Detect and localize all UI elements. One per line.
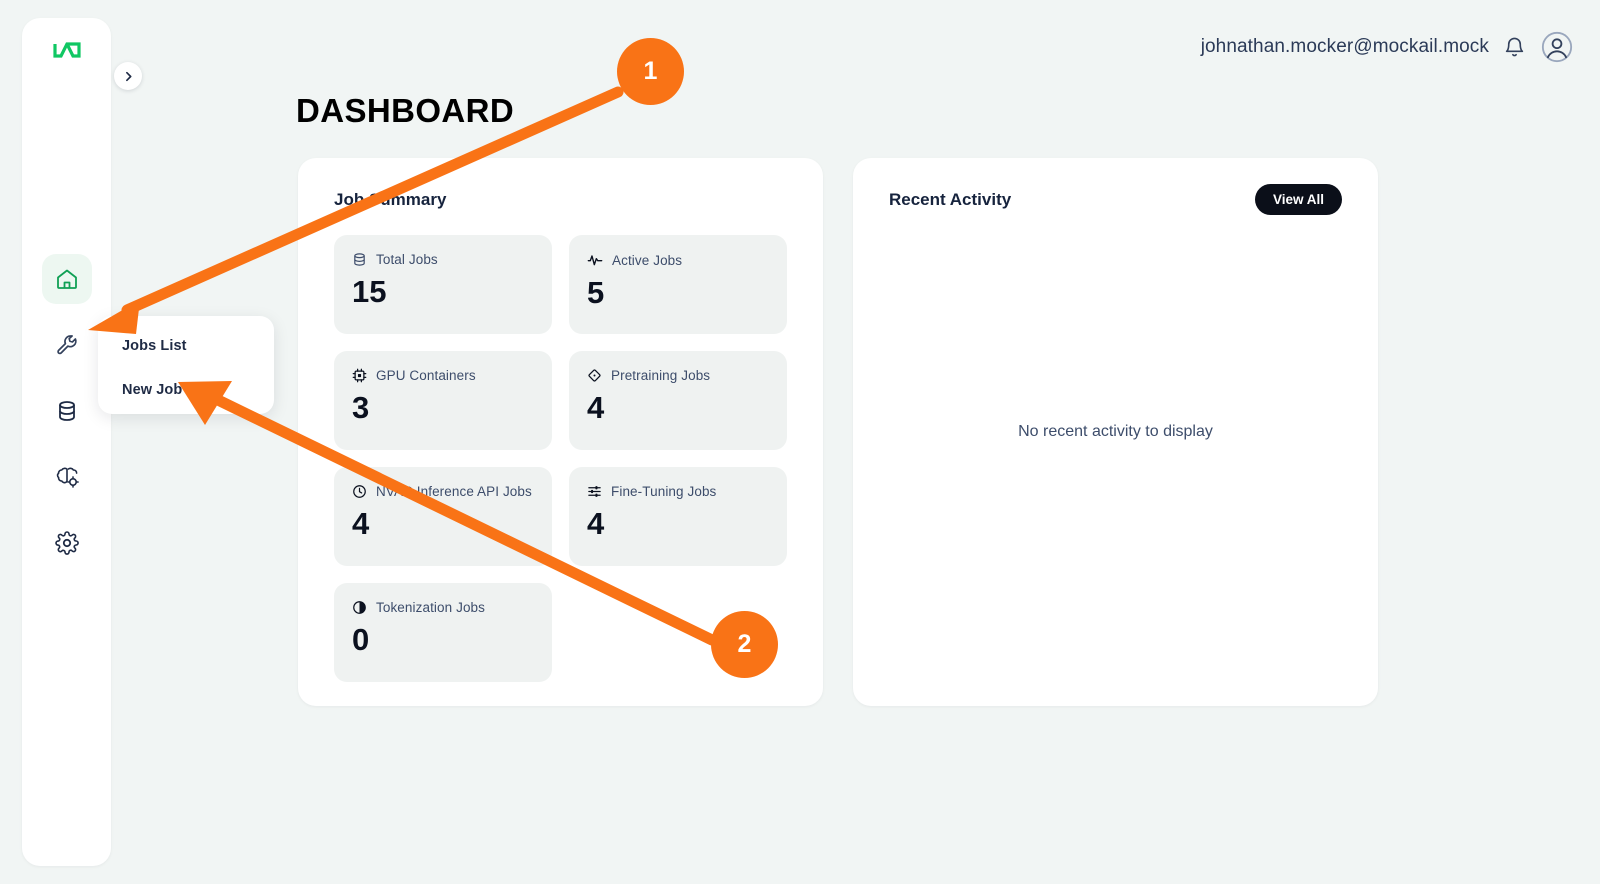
flyout-item-new-job[interactable]: New Job bbox=[122, 382, 274, 398]
chevron-right-icon bbox=[122, 70, 135, 83]
sidebar-collapse-button[interactable] bbox=[114, 62, 142, 90]
stat-label: Fine-Tuning Jobs bbox=[611, 484, 716, 499]
database-icon bbox=[55, 399, 79, 423]
annotation-badge-1: 1 bbox=[617, 38, 684, 105]
stat-label: Pretraining Jobs bbox=[611, 368, 710, 383]
sidebar-item-jobs[interactable] bbox=[42, 320, 92, 370]
stat-card-fine-tuning-jobs: Fine-Tuning Jobs 4 bbox=[569, 467, 787, 566]
clock-icon bbox=[352, 484, 367, 499]
stat-grid: Total Jobs 15 Active Jobs 5 bbox=[334, 235, 787, 682]
stat-label: Total Jobs bbox=[376, 252, 438, 267]
stat-card-total-jobs: Total Jobs 15 bbox=[334, 235, 552, 334]
gear-icon bbox=[55, 531, 79, 555]
notifications-button[interactable] bbox=[1503, 36, 1526, 59]
wrench-icon bbox=[55, 333, 79, 357]
stat-card-tokenization-jobs: Tokenization Jobs 0 bbox=[334, 583, 552, 682]
stat-value: 4 bbox=[587, 508, 769, 539]
avatar[interactable] bbox=[1540, 30, 1574, 64]
sliders-icon bbox=[587, 484, 602, 499]
stat-card-gpu-containers: GPU Containers 3 bbox=[334, 351, 552, 450]
dashboard-page: Jobs List New Job johnathan.mocker@mocka… bbox=[0, 0, 1600, 884]
user-avatar-icon bbox=[1540, 30, 1574, 64]
page-title: DASHBOARD bbox=[296, 92, 514, 130]
recent-activity-panel: Recent Activity View All No recent activ… bbox=[853, 158, 1378, 706]
stat-value: 4 bbox=[352, 508, 534, 539]
top-header: johnathan.mocker@mockail.mock bbox=[1201, 26, 1574, 68]
sidebar-item-home[interactable] bbox=[42, 254, 92, 304]
jobs-flyout-menu: Jobs List New Job bbox=[98, 316, 274, 414]
flyout-item-jobs-list[interactable]: Jobs List bbox=[122, 338, 274, 354]
stat-card-active-jobs: Active Jobs 5 bbox=[569, 235, 787, 334]
stat-label: Tokenization Jobs bbox=[376, 600, 485, 615]
home-icon bbox=[55, 267, 79, 291]
stat-value: 15 bbox=[352, 276, 534, 307]
activity-empty-state: No recent activity to display bbox=[853, 158, 1378, 706]
sidebar-nav bbox=[22, 254, 111, 568]
stat-value: 4 bbox=[587, 392, 769, 423]
sidebar-item-data[interactable] bbox=[42, 386, 92, 436]
bell-icon bbox=[1503, 36, 1526, 59]
stat-label: GPU Containers bbox=[376, 368, 476, 383]
stat-value: 3 bbox=[352, 392, 534, 423]
cpu-chip-icon bbox=[352, 368, 367, 383]
stat-value: 5 bbox=[587, 277, 769, 308]
stat-label: Active Jobs bbox=[612, 253, 682, 268]
database-stack-icon bbox=[352, 252, 367, 267]
stat-card-nvac-inference-api-jobs: NVAC Inference API Jobs 4 bbox=[334, 467, 552, 566]
sidebar-item-models[interactable] bbox=[42, 452, 92, 502]
sidebar bbox=[22, 18, 111, 866]
stat-card-pretraining-jobs: Pretraining Jobs 4 bbox=[569, 351, 787, 450]
infinity-loop-logo-icon bbox=[52, 40, 82, 60]
sidebar-item-settings[interactable] bbox=[42, 518, 92, 568]
brain-cog-icon bbox=[55, 465, 79, 489]
activity-pulse-icon bbox=[587, 252, 603, 268]
user-email: johnathan.mocker@mockail.mock bbox=[1201, 36, 1489, 58]
stat-label: NVAC Inference API Jobs bbox=[376, 484, 532, 499]
split-circle-icon bbox=[352, 600, 367, 615]
annotation-badge-2: 2 bbox=[711, 611, 778, 678]
job-summary-title: Job Summary bbox=[334, 190, 446, 210]
diamond-icon bbox=[587, 368, 602, 383]
app-logo[interactable] bbox=[22, 40, 111, 60]
stat-value: 0 bbox=[352, 624, 534, 655]
